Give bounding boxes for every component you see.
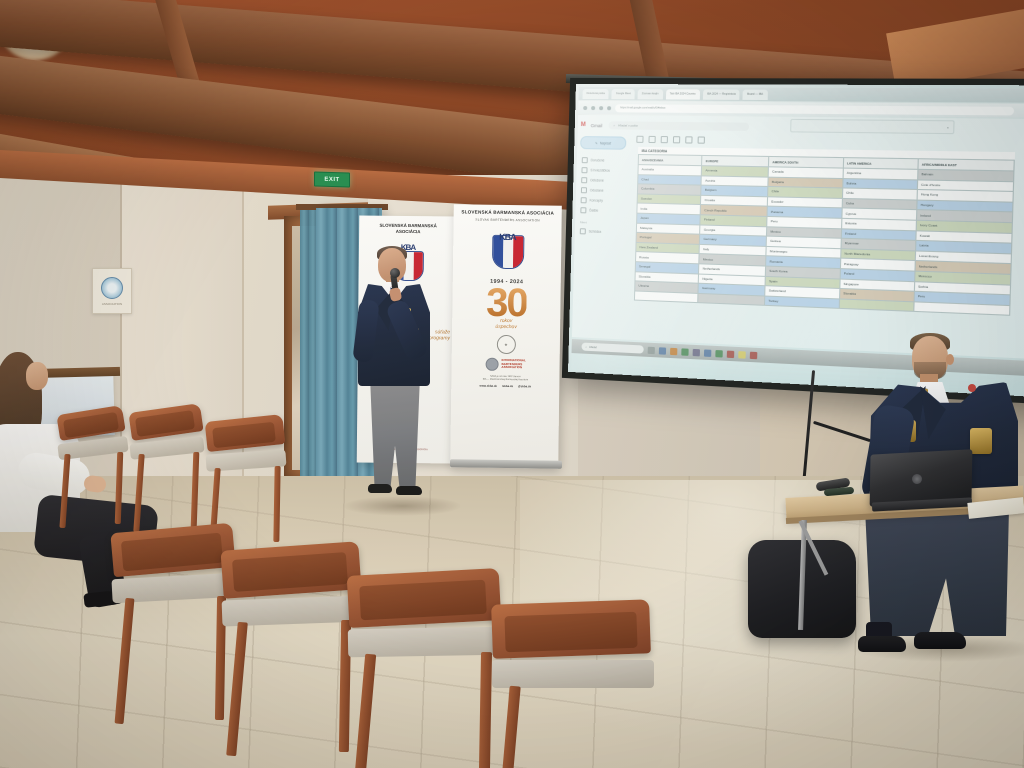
banner-subtitle-line2: úspechov (495, 324, 516, 330)
banner-url-instagram: @skba.sk (518, 384, 531, 388)
crest-letters: KBA (485, 227, 529, 248)
report-spam-icon[interactable] (648, 135, 655, 142)
browser-tab[interactable]: Doručená pošta (583, 88, 609, 98)
sidebar-item-sent[interactable]: Odoslané (579, 186, 631, 195)
sidebar-item-more[interactable]: Ďalšie (578, 206, 630, 215)
seated-man-lapel-pin (968, 384, 976, 392)
banner-urls: www.skba.sk /skba.sk @skba.sk (480, 384, 532, 389)
skba-crest-icon-main: KBA (485, 227, 530, 276)
gmail-wordmark: Gmail (591, 123, 603, 128)
banner-footer-line2: IBA — Medzinárodnej Barmanskej Asociácie (483, 379, 528, 382)
sidebar-item-label: S hviezdičkou (590, 168, 610, 172)
browser-tab-strip: Doručená pošta Google Meet Zoznam krajín… (578, 87, 1024, 103)
more-icon[interactable] (698, 136, 705, 143)
mark-unread-icon[interactable] (673, 136, 680, 143)
start-icon[interactable] (648, 346, 655, 353)
sidebar-item-meeting[interactable]: Schôdza (578, 227, 630, 237)
sidebar-item-label: Schôdza (589, 229, 601, 233)
sidebar-item-label: Odložené (590, 178, 604, 182)
iba-label: INTERNATIONAL BARTENDERS ASSOCIATION (501, 359, 525, 370)
chrome-icon[interactable] (670, 347, 677, 354)
pencil-icon: ✎ (595, 141, 598, 145)
seated-man-shoe-left (858, 636, 906, 652)
taskbar-search-input[interactable]: ⌕ Hľadať (581, 343, 643, 354)
explorer-icon[interactable] (659, 347, 666, 354)
draft-icon (581, 197, 587, 203)
taskbar-search-placeholder: Hľadať (589, 345, 597, 348)
reload-icon[interactable] (599, 106, 603, 110)
emblem-caption: ASSOCIATION (102, 302, 122, 306)
inbox-icon (582, 157, 588, 163)
gmail-m-icon: M (581, 122, 589, 128)
gmail-search-input[interactable]: ⌕ Hľadať v pošte (608, 121, 749, 131)
chair[interactable] (348, 572, 510, 768)
sidebar-item-snoozed[interactable]: Odložené (579, 176, 631, 185)
back-arrow-icon[interactable] (583, 106, 587, 110)
sidebar-item-drafts[interactable]: Koncepty (579, 196, 631, 205)
forward-arrow-icon[interactable] (591, 106, 595, 110)
chair[interactable] (492, 602, 660, 768)
microphone-icon (390, 268, 400, 278)
browser-tab[interactable]: Board — IBA (743, 89, 768, 99)
banner-title-en: SLOVAK BARTENDERS ASSOCIATION (475, 218, 539, 223)
search-icon: ⌕ (613, 123, 615, 127)
country-category-table: IBA CATEGORIAASIA/OCEANIAEUROPEAMERICA S… (634, 147, 1015, 316)
banner-url-website: www.skba.sk (480, 384, 498, 388)
delete-icon[interactable] (661, 136, 668, 143)
gmail-search-placeholder: Hľadať v pošte (618, 123, 638, 127)
rollup-banner-main: SLOVENSKÁ BARMANSKÁ ASOCIÁCIA SLOVAK BAR… (450, 204, 562, 468)
banner-anniversary-number: 30 (486, 286, 527, 321)
browser-tab-active[interactable]: Tab IBA 2024 Country (666, 89, 700, 99)
person-speaker-standing (352, 248, 448, 506)
sidebar-item-starred[interactable]: S hviezdičkou (579, 166, 631, 175)
folder-icon[interactable] (738, 351, 746, 359)
speaker-shoe-left (368, 484, 392, 493)
sidebar-item-label: Odoslané (590, 188, 604, 192)
globe-icon (485, 358, 498, 371)
mail-icon[interactable] (681, 348, 688, 355)
exit-sign: EXIT (314, 172, 350, 188)
teams-icon[interactable] (693, 348, 700, 356)
table-cell (698, 293, 765, 305)
banner-url-facebook: /skba.sk (502, 384, 513, 388)
wall-emblem-plaque: ASSOCIATION (92, 268, 132, 314)
sidebar-section-header: Meet (580, 220, 630, 225)
banner-footer-line1: SABA je od roku 1997 členom (490, 376, 521, 378)
powerpoint-icon[interactable] (727, 350, 735, 358)
word-icon[interactable] (704, 349, 711, 357)
browser-tab[interactable]: IBA 2024 — Registrácia (703, 89, 740, 99)
table-body: IBA CATEGORIAASIA/OCEANIAEUROPEAMERICA S… (634, 147, 1014, 316)
banner-base-stand (450, 459, 562, 469)
sidebar-item-label: Doručené (591, 158, 605, 162)
seated-man-shoe-right (914, 632, 966, 649)
snooze-icon[interactable] (685, 136, 692, 143)
seated-man-pocket-crest (970, 428, 992, 454)
banner-title-sk: SLOVENSKÁ BARMANSKÁ ASOCIÁCIA (461, 209, 554, 216)
video-icon (580, 228, 586, 234)
emblem-icon (101, 277, 123, 299)
iba-seal-icon: ★ (496, 335, 515, 354)
iba-line3: ASSOCIATION (501, 365, 522, 369)
banner-footer: SABA je od roku 1997 členom IBA — Medzin… (483, 376, 528, 383)
star-icon (581, 167, 587, 173)
sidebar-item-inbox[interactable]: Doručené (580, 156, 632, 165)
home-icon[interactable] (607, 106, 611, 110)
speaker-shoe-right (396, 486, 422, 495)
gmail-sidebar: ✎ Napísať Doručené S hviezdičkou Odložen… (575, 136, 632, 335)
banner-secondary-title-line2: ASOCIÁCIA (396, 229, 421, 235)
more-icon (580, 207, 586, 213)
excel-icon[interactable] (715, 349, 722, 357)
browser-tab[interactable]: Google Meet (612, 89, 635, 99)
url-input[interactable]: https://mail.google.com/mail/u/0/#inbox (615, 104, 1014, 115)
speaker-trousers (368, 380, 422, 486)
archive-icon[interactable] (636, 135, 643, 142)
table-cell (634, 291, 698, 303)
browser-tab[interactable]: Zoznam krajín (638, 89, 663, 99)
sidebar-item-label: Koncepty (590, 198, 603, 202)
gmail-compose-button[interactable]: ✎ Napísať (580, 136, 626, 150)
search-icon: ⌕ (586, 345, 588, 348)
woman-face (26, 362, 48, 390)
conference-room-photo: EXIT ASSOCIATION Doručená pošta Google M… (0, 0, 1024, 768)
gmail-logo: M Gmail (581, 122, 603, 128)
sidebar-item-label: Ďalšie (589, 208, 598, 212)
send-icon (581, 187, 587, 193)
pdf-icon[interactable] (750, 351, 758, 359)
iba-logo-block: INTERNATIONAL BARTENDERS ASSOCIATION (485, 358, 525, 372)
compose-label: Napísať (600, 141, 611, 145)
seated-man-ear (946, 354, 954, 365)
clock-icon (581, 177, 587, 183)
seated-man-trousers (862, 508, 1012, 636)
